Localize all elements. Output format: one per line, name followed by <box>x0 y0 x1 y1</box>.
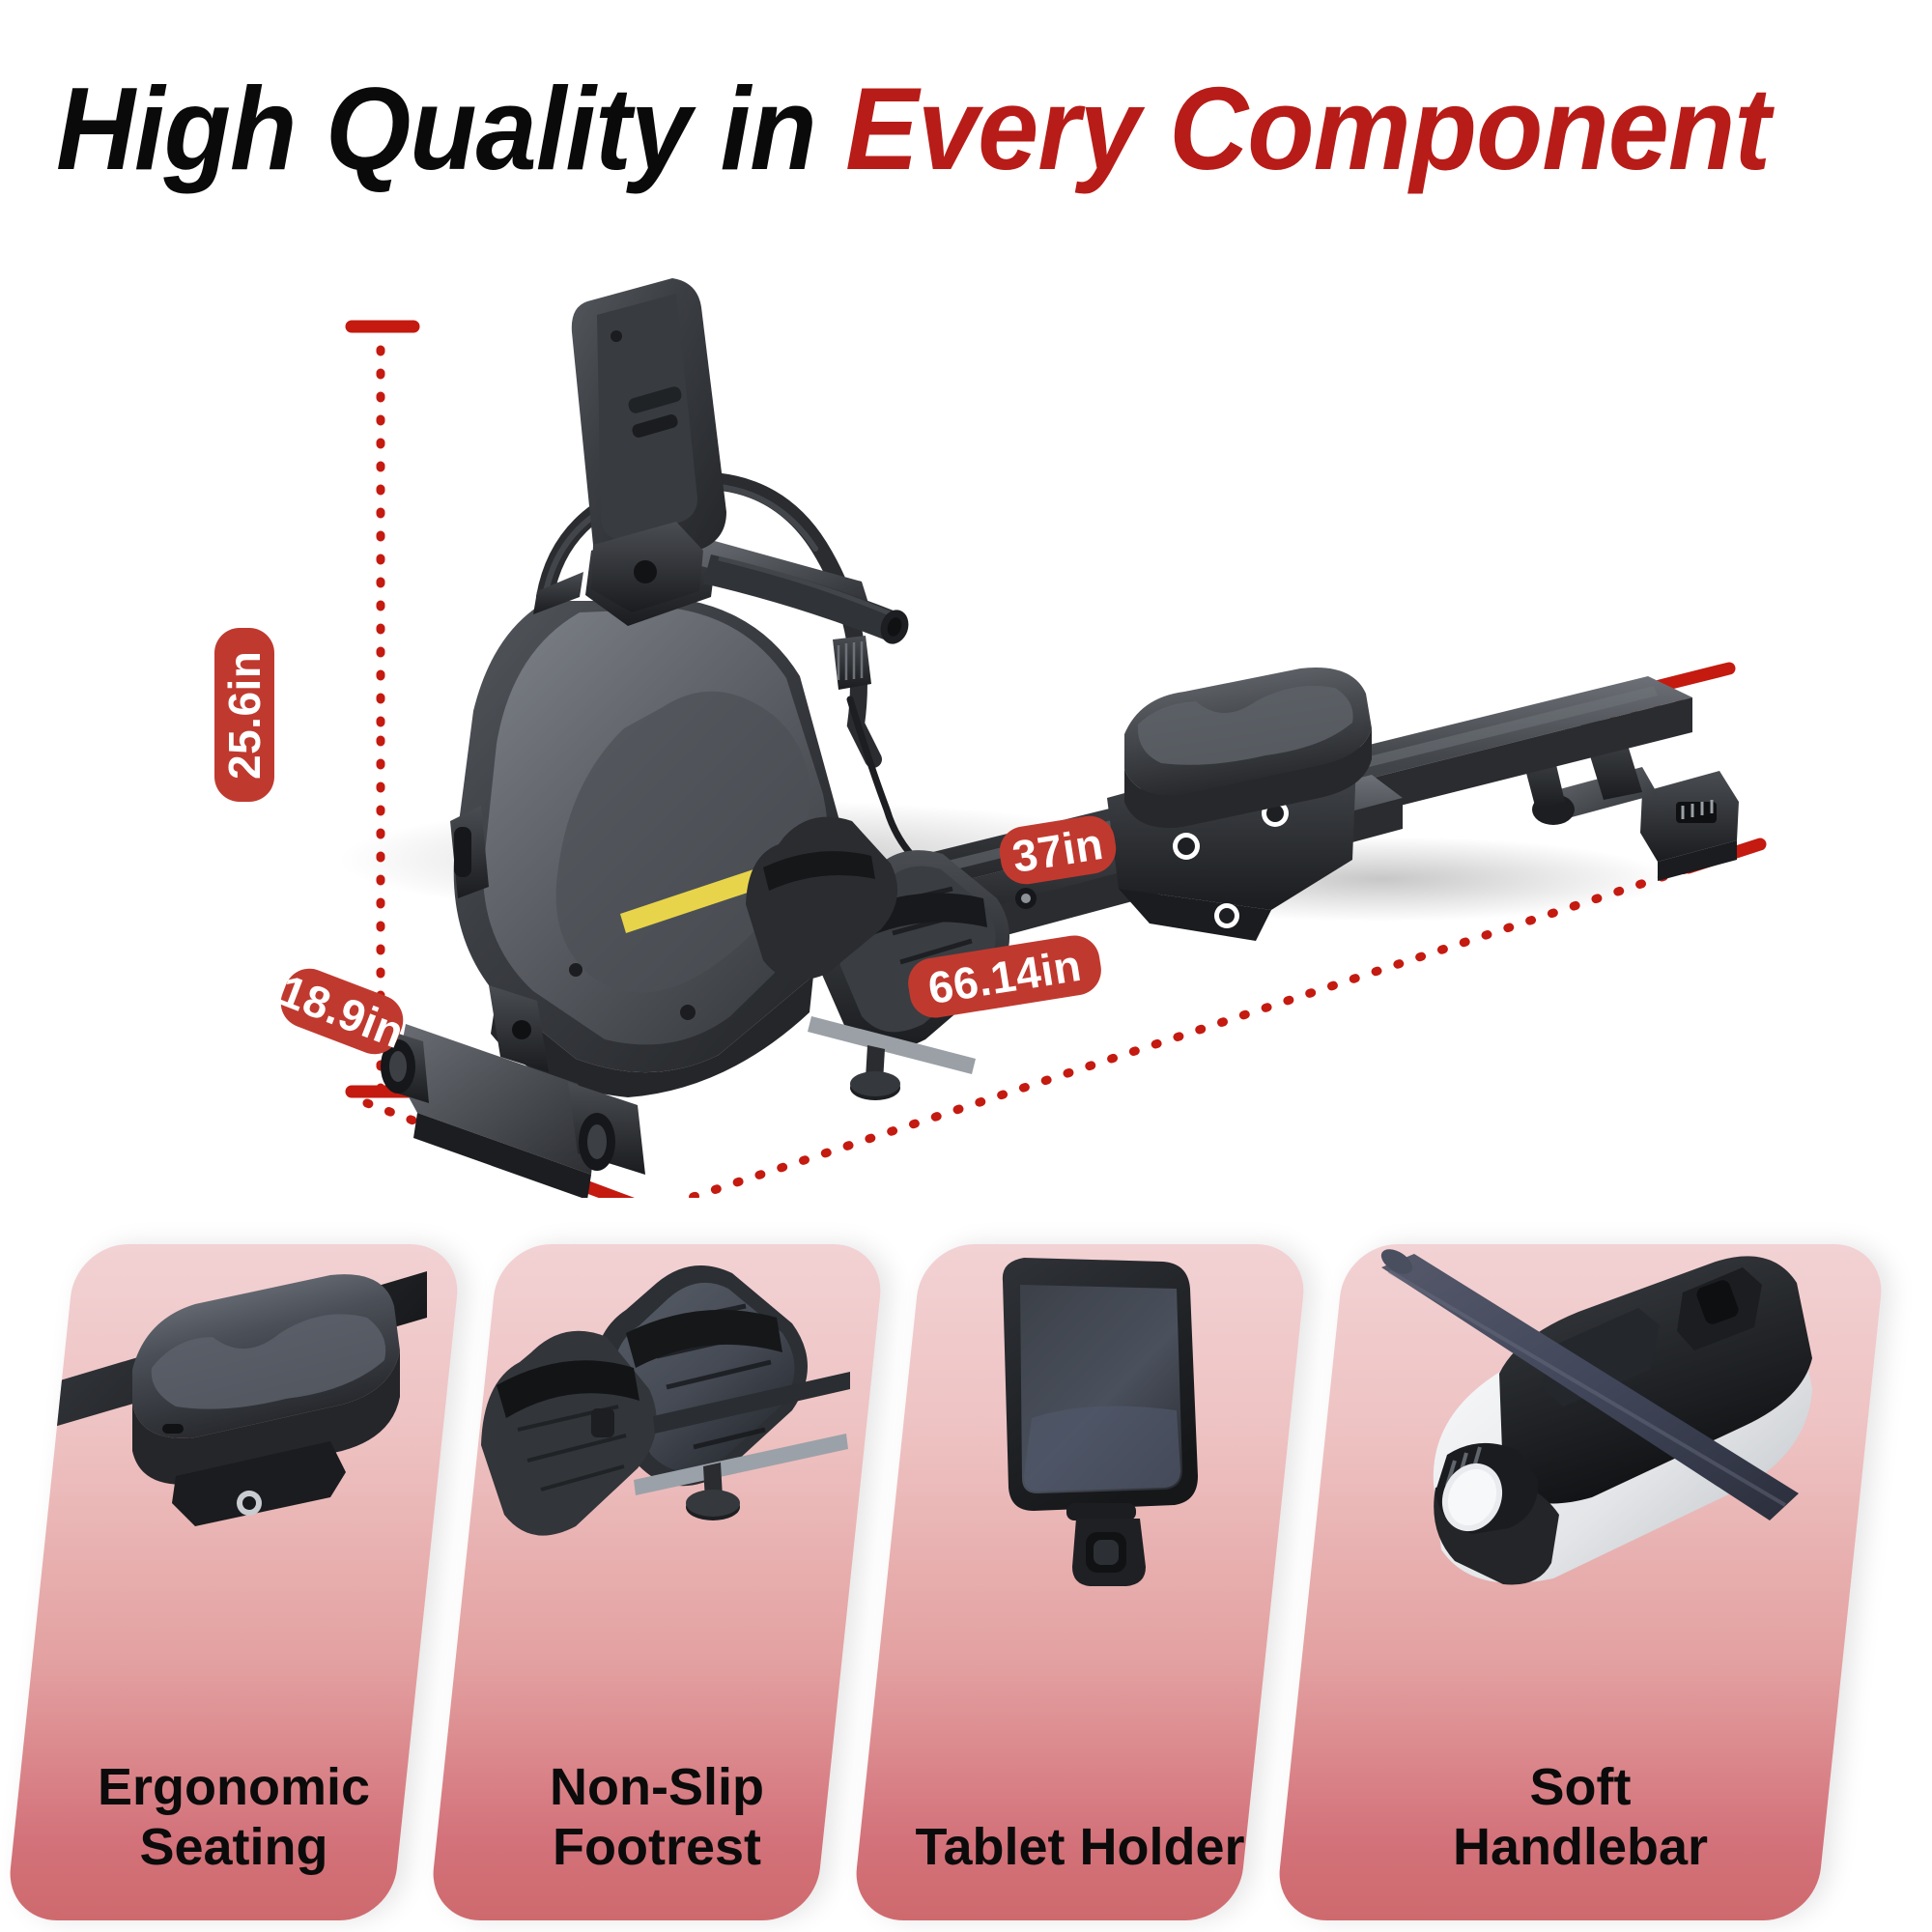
feature-card-handlebar-label: Soft Handlebar <box>1310 1757 1851 1878</box>
handlebar-icon <box>1310 1244 1851 1708</box>
feature-card-row: Ergonomic Seating <box>0 1244 1932 1932</box>
feature-card-seat-label: Ergonomic Seating <box>41 1757 427 1878</box>
feature-card-seat[interactable]: Ergonomic Seating <box>5 1244 463 1920</box>
tablet-holder-icon <box>887 1244 1273 1708</box>
page-title: High Quality in Every Component <box>56 70 1763 187</box>
page-title-primary: High Quality in <box>56 63 845 194</box>
feature-card-tablet-label: Tablet Holder <box>887 1817 1273 1878</box>
seat-icon <box>41 1244 427 1708</box>
feature-card-handlebar[interactable]: Soft Handlebar <box>1274 1244 1887 1920</box>
rowing-machine-illustration <box>0 222 1932 1198</box>
height-dimension-badge: 25.6in <box>214 628 274 802</box>
feature-card-footrest-label: Non-Slip Footrest <box>464 1757 850 1878</box>
footrest-icon <box>464 1244 850 1708</box>
product-dimension-diagram: 25.6in 18.9in 37in 66.14in <box>0 222 1932 1198</box>
infographic-page: High Quality in Every Component <box>0 0 1932 1932</box>
feature-card-tablet[interactable]: Tablet Holder <box>851 1244 1309 1920</box>
resistance-knob <box>833 636 871 690</box>
product-render <box>381 278 1739 1198</box>
feature-card-footrest[interactable]: Non-Slip Footrest <box>428 1244 886 1920</box>
page-title-accent: Every Component <box>845 63 1770 194</box>
